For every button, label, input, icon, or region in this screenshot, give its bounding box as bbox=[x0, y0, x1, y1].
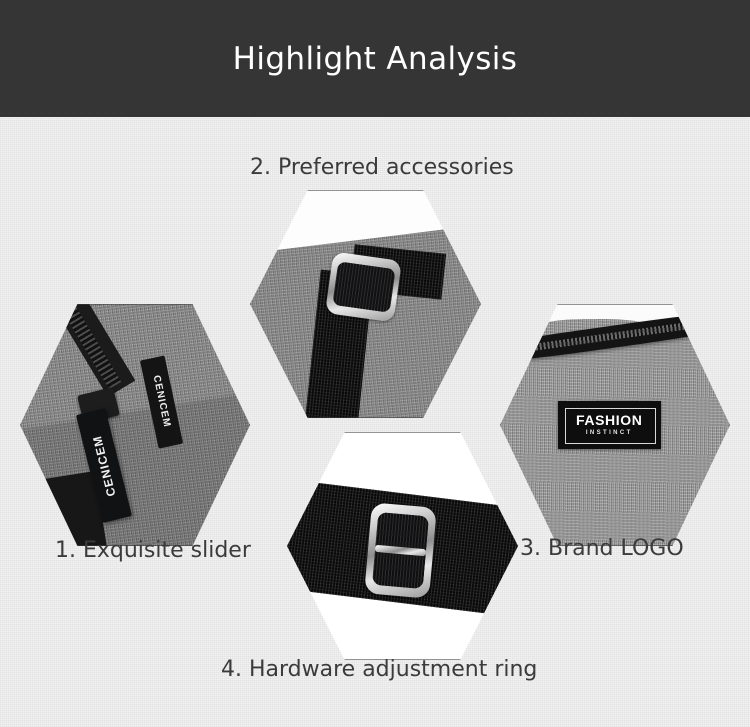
hardware-adjustment-ring bbox=[364, 502, 436, 598]
infographic-page: Highlight Analysis 2. Preferred accessor… bbox=[0, 0, 750, 727]
zipper-pull-tag-text: CENICEM bbox=[90, 434, 119, 498]
metal-ring-accessory bbox=[325, 252, 402, 323]
caption-preferred-accessories: 2. Preferred accessories bbox=[250, 155, 514, 180]
brand-logo-patch-sub-text: INSTINCT bbox=[586, 430, 633, 436]
page-title: Highlight Analysis bbox=[233, 41, 518, 77]
caption-hardware-adjustment-ring: 4. Hardware adjustment ring bbox=[221, 657, 537, 682]
header-bar: Highlight Analysis bbox=[0, 0, 750, 117]
brand-logo-patch: FASHION INSTINCT bbox=[558, 401, 662, 449]
side-brand-tag-text: CENICEM bbox=[151, 375, 173, 429]
caption-brand-logo: 3. Brand LOGO bbox=[520, 536, 684, 561]
brand-logo-patch-main-text: FASHION bbox=[576, 413, 642, 427]
caption-exquisite-slider: 1. Exquisite slider bbox=[55, 538, 251, 563]
metal-ring-opening bbox=[331, 261, 395, 313]
